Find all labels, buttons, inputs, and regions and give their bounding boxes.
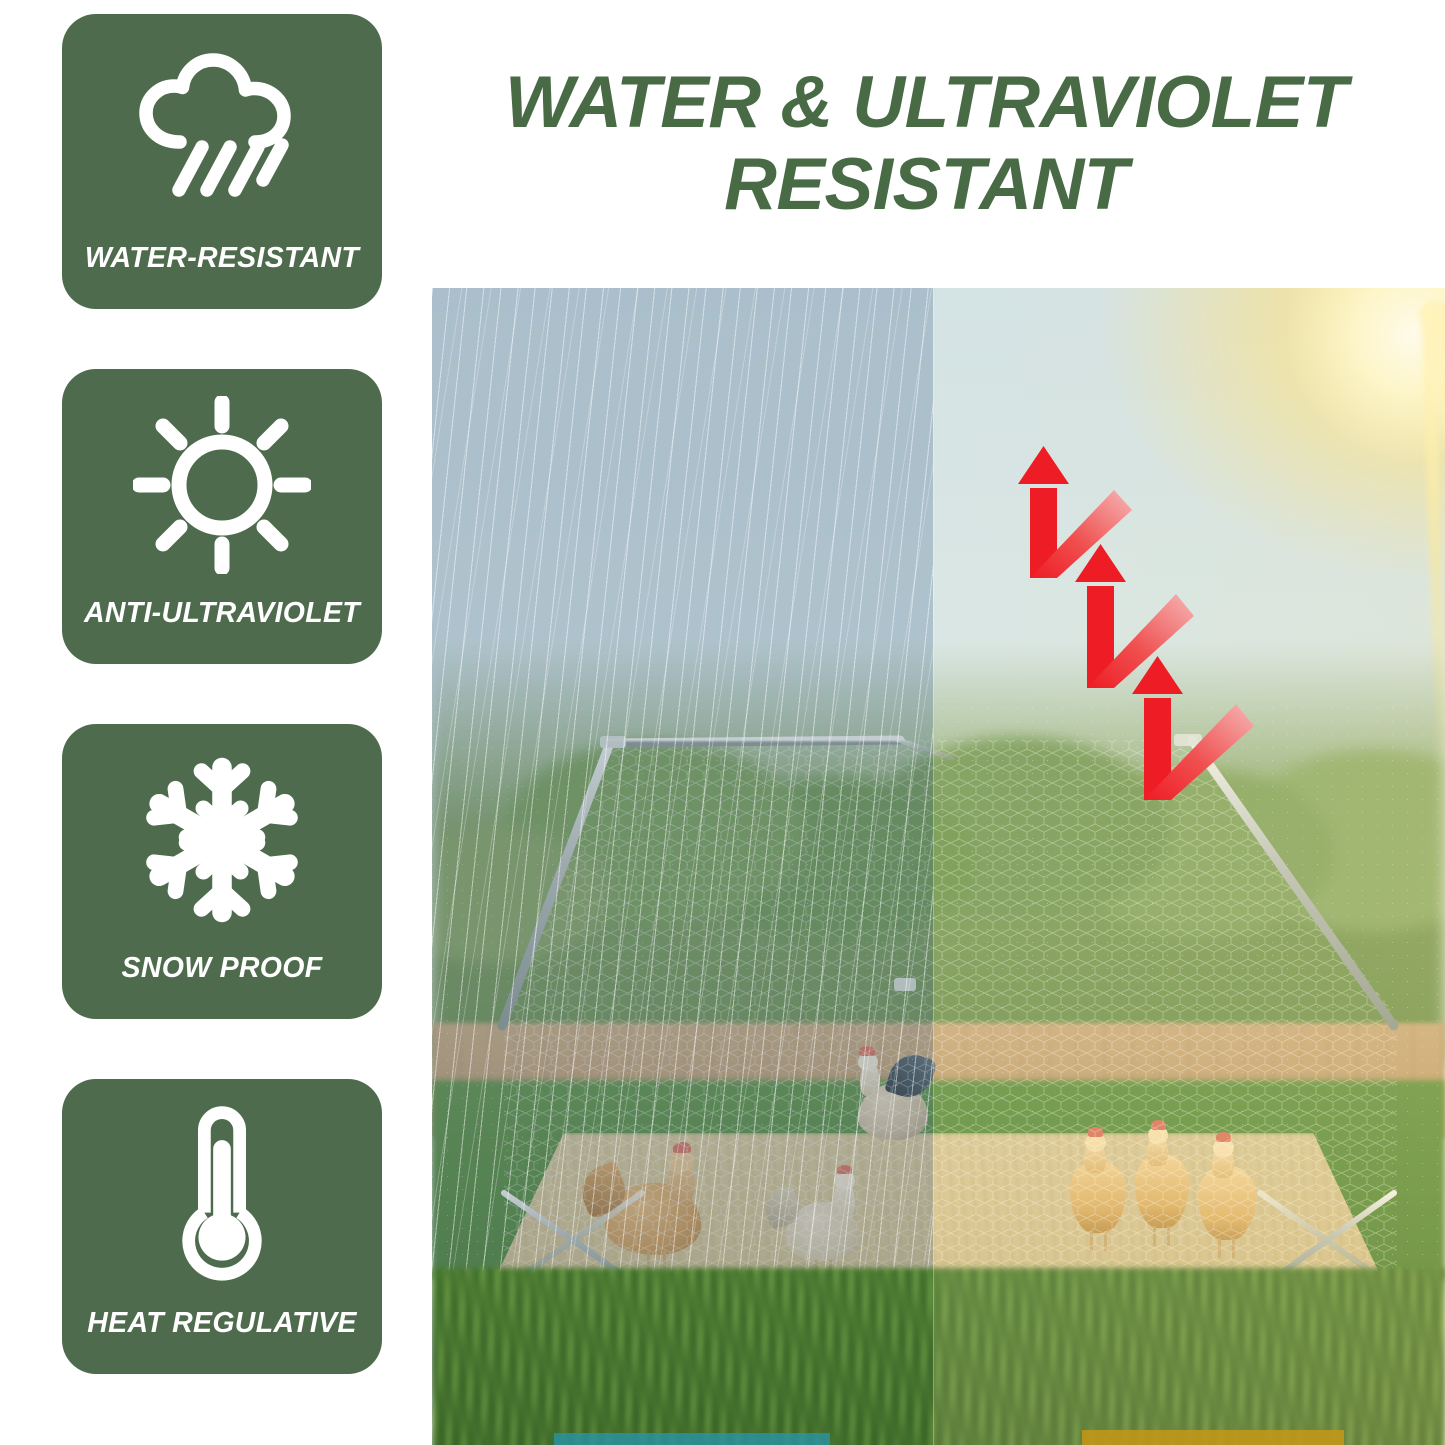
thermometer-icon bbox=[122, 1097, 322, 1293]
feature-badge-column: WATER-RESISTANT bbox=[62, 14, 382, 1434]
snowflake-icon bbox=[122, 742, 322, 938]
feature-badge-label: HEAT REGULATIVE bbox=[87, 1307, 356, 1340]
feature-badge-heat-regulative[interactable]: HEAT REGULATIVE bbox=[62, 1079, 382, 1374]
uv-reflection-arrows bbox=[432, 288, 1445, 1445]
feature-badge-snow-proof[interactable]: SNOW PROOF bbox=[62, 724, 382, 1019]
feature-badge-label: ANTI-ULTRAVIOLET bbox=[84, 597, 360, 630]
cloud-rain-icon bbox=[122, 32, 322, 228]
weather-chip-rain[interactable]: Rain bbox=[554, 1433, 830, 1445]
feature-badge-water-resistant[interactable]: WATER-RESISTANT bbox=[62, 14, 382, 309]
sun-icon bbox=[122, 387, 322, 583]
page-title: WATER & ULTRAVIOLET RESISTANT bbox=[420, 62, 1432, 226]
product-photo: Rain Sunny bbox=[432, 288, 1445, 1445]
feature-badge-label: SNOW PROOF bbox=[122, 952, 323, 985]
page-title-line-1: WATER & ULTRAVIOLET bbox=[420, 62, 1432, 144]
feature-badge-label: WATER-RESISTANT bbox=[85, 242, 359, 275]
infographic-root: WATER-RESISTANT bbox=[0, 0, 1445, 1445]
page-title-line-2: RESISTANT bbox=[420, 144, 1432, 226]
feature-badge-anti-ultraviolet[interactable]: ANTI-ULTRAVIOLET bbox=[62, 369, 382, 664]
weather-chip-sunny[interactable]: Sunny bbox=[1082, 1430, 1344, 1445]
